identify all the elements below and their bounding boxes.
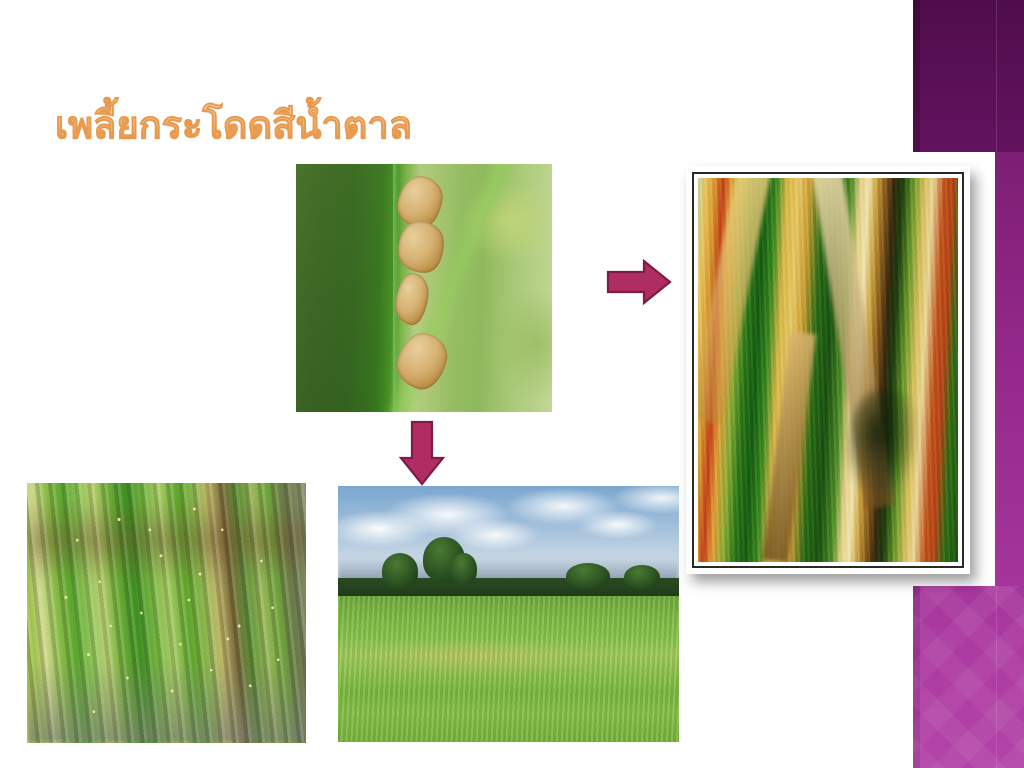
damaged-rice-photo: Rice plants showing hopperburn damage, o… xyxy=(698,178,958,562)
slide-canvas: เพลี้ยกระโดดสีน้ำตาล Brown planthoppers … xyxy=(0,0,1024,768)
infested-stems-photo-image xyxy=(27,483,306,743)
damaged-rice-photo-image xyxy=(698,178,958,562)
planthopper-nymph-cluster xyxy=(27,483,306,743)
tree xyxy=(624,565,660,589)
field-texture xyxy=(338,596,679,742)
page-title: เพลี้ยกระโดดสีน้ำตาล xyxy=(55,103,412,149)
sidebar-notch-right-strip xyxy=(995,152,1024,586)
down-arrow-icon xyxy=(398,420,446,486)
planthoppers-photo-image xyxy=(296,164,552,412)
tree xyxy=(451,553,477,585)
tree xyxy=(566,563,610,589)
background-leaf xyxy=(370,164,519,412)
infested-stems-photo: Close-up of rice stems covered with pale… xyxy=(27,483,306,743)
planthoppers-photo: Brown planthoppers clustered on a green … xyxy=(296,164,552,412)
right-arrow-icon xyxy=(606,258,672,306)
paddy-field-photo: Green rice paddy field with trees, dista… xyxy=(338,486,679,742)
tree xyxy=(382,553,418,589)
planthopper-insect xyxy=(397,219,447,274)
